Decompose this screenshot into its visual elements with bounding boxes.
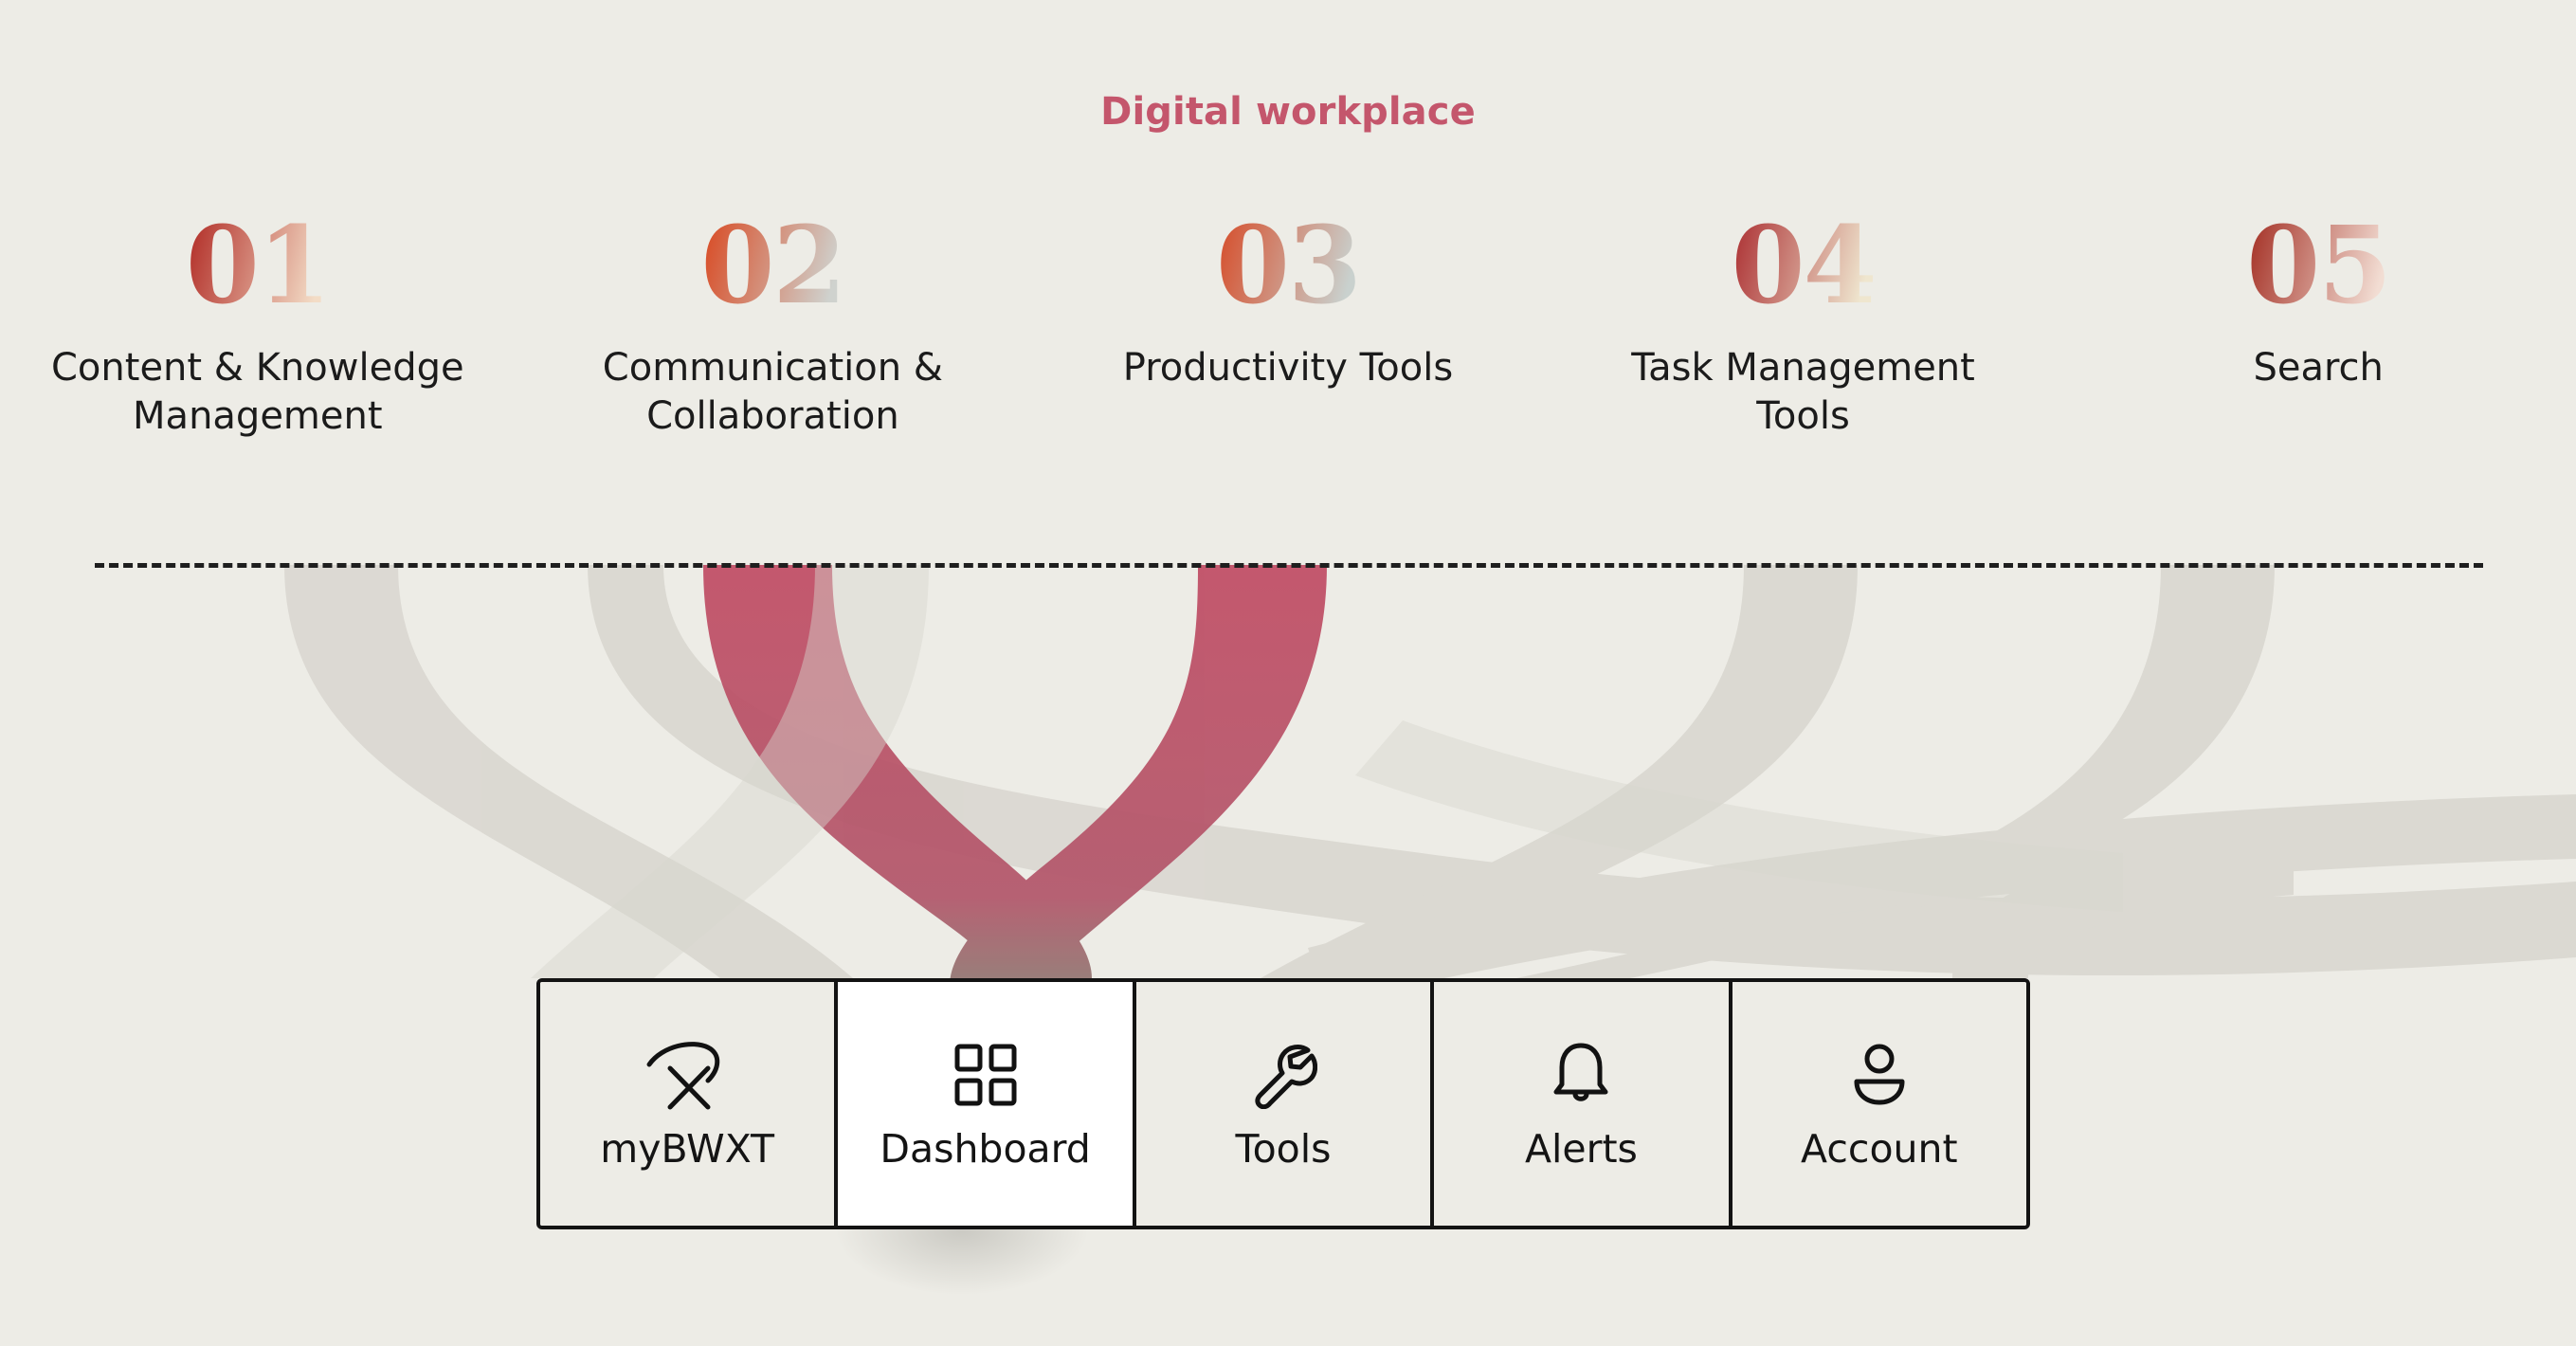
category-label-01: Content & Knowledge Management <box>35 344 481 441</box>
category-number-04: 04 <box>1732 213 1876 319</box>
nav-tab-mybwxt[interactable]: myBWXT <box>540 982 838 1226</box>
nav-tab-dashboard[interactable]: Dashboard <box>838 982 1135 1226</box>
category-number-05: 05 <box>2246 213 2390 319</box>
category-number-02: 02 <box>700 213 844 319</box>
nav-tab-label-alerts: Alerts <box>1525 1130 1638 1169</box>
wrench-icon <box>1249 1039 1317 1111</box>
category-item-03: 03 Productivity Tools <box>1030 213 1546 392</box>
nav-tab-tools[interactable]: Tools <box>1136 982 1434 1226</box>
nav-tab-account[interactable]: Account <box>1732 982 2026 1226</box>
dashed-divider <box>95 563 2483 568</box>
category-number-01: 01 <box>186 213 330 319</box>
category-label-04: Task Management Tools <box>1581 344 2026 441</box>
category-label-05: Search <box>2253 344 2383 392</box>
bottom-nav-bar: myBWXT Dashboard Tools Alerts <box>536 978 2030 1229</box>
category-item-04: 04 Task Management Tools <box>1546 213 2061 441</box>
category-label-02: Communication & Collaboration <box>550 344 995 441</box>
category-number-03: 03 <box>1216 213 1360 319</box>
bell-icon <box>1551 1039 1611 1111</box>
bwxt-logo-icon <box>644 1039 731 1111</box>
user-person-icon <box>1849 1039 1910 1111</box>
category-label-03: Productivity Tools <box>1123 344 1453 392</box>
category-item-05: 05 Search <box>2060 213 2576 392</box>
page-title: Digital workplace <box>0 90 2576 134</box>
nav-tab-label-account: Account <box>1801 1130 1958 1169</box>
grid-squares-icon <box>954 1039 1017 1111</box>
category-row: 01 Content & Knowledge Management 02 Com… <box>0 213 2576 441</box>
nav-tab-label-mybwxt: myBWXT <box>600 1130 774 1169</box>
nav-drop-shadow <box>834 1229 1090 1296</box>
nav-tab-label-dashboard: Dashboard <box>880 1130 1090 1169</box>
category-item-01: 01 Content & Knowledge Management <box>0 213 516 441</box>
nav-tab-alerts[interactable]: Alerts <box>1434 982 1732 1226</box>
category-item-02: 02 Communication & Collaboration <box>516 213 1031 441</box>
nav-tab-label-tools: Tools <box>1236 1130 1332 1169</box>
